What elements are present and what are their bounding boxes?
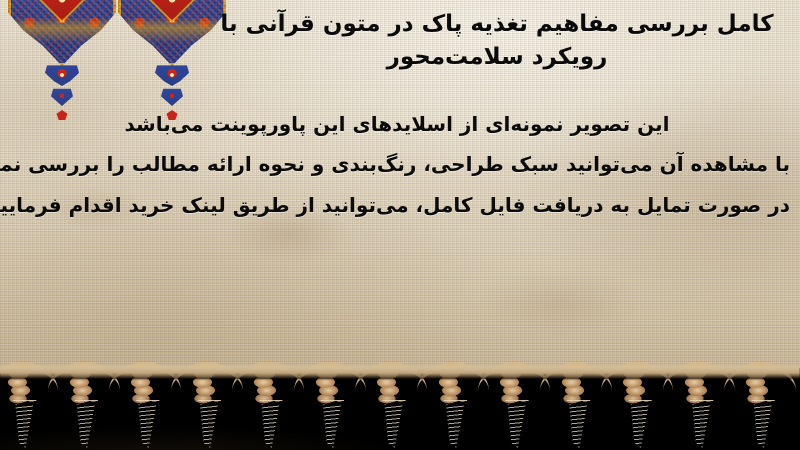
carpet-bottom-edge [0,363,800,379]
carpet-tassel [669,368,729,450]
carpet-tassel [54,368,114,450]
carpet-tassel [423,368,483,450]
slide-body-line-2: با مشاهده آن می‌توانید سبک طراحی، رنگ‌بن… [4,144,790,184]
carpet-fringe-region [0,368,800,450]
slide-title: کامل بررسی مفاهیم تغذیه پاک در متون قرآن… [208,8,786,73]
slide-body-text: این تصویر نمونه‌ای از اسلایدهای این پاور… [4,104,790,225]
slide-canvas: کامل بررسی مفاهیم تغذیه پاک در متون قرآن… [0,0,800,450]
carpet-tassel [730,368,790,450]
carpet-tassel [0,368,52,450]
carpet-tassel [238,368,298,450]
carpet-tassel [300,368,360,450]
medallion-left-gold-edge [8,0,116,66]
carpet-tassel [546,368,606,450]
medallion-left [8,0,116,66]
slide-title-line-2: سلامت‌محور [387,44,524,70]
carpet-tassel [607,368,667,450]
carpet-tassel [177,368,237,450]
carpet-tassel [115,368,175,450]
slide-body-line-3: در صورت تمایل به دریافت فایل کامل، می‌تو… [4,185,790,225]
slide-body-line-1: این تصویر نمونه‌ای از اسلایدهای این پاور… [4,104,790,144]
carpet-tassel [484,368,544,450]
carpet-tassel [361,368,421,450]
